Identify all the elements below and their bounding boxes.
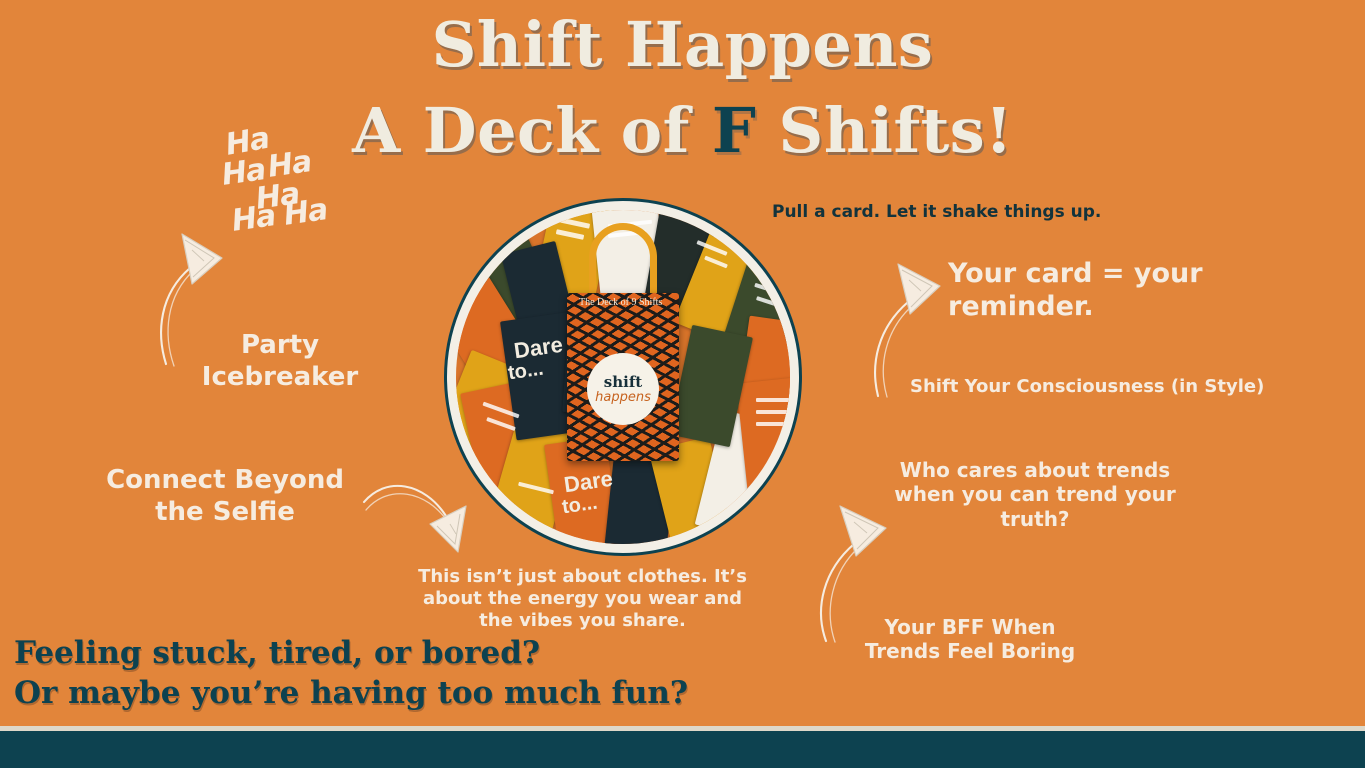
bottom-question-line-1: Feeling stuck, tired, or bored? xyxy=(14,634,714,674)
pack-top-text: The Deck of 9 Shifts xyxy=(579,297,662,308)
arrow-to-circle-left-icon xyxy=(362,472,477,572)
callout-party-icebreaker: Party Icebreaker xyxy=(160,330,400,393)
badge-sub: happens xyxy=(595,391,651,404)
card-label: to... xyxy=(507,360,545,384)
title-line-1: Shift Happens xyxy=(0,14,1365,76)
callout-your-card-reminder: Your card = your reminder. xyxy=(948,258,1348,324)
callout-your-bff: Your BFF When Trends Feel Boring xyxy=(830,615,1110,664)
callout-pull-a-card: Pull a card. Let it shake things up. xyxy=(772,202,1252,223)
title-accent-letter: F xyxy=(712,94,757,167)
product-photo: Dare to... Dare to... The Deck of 9 Shif… xyxy=(456,210,790,544)
callout-about-clothes: This isn’t just about clothes. It’s abou… xyxy=(410,566,755,632)
card-label: to... xyxy=(561,494,599,518)
badge-title: shift xyxy=(604,375,642,390)
callout-shift-consciousness: Shift Your Consciousness (in Style) xyxy=(910,376,1310,398)
laugh-text: Ha xyxy=(266,144,314,185)
laugh-text: Ha xyxy=(230,198,278,239)
footer-bar xyxy=(0,731,1365,768)
laugh-text: Ha xyxy=(220,152,268,193)
laugh-text: Ha xyxy=(254,176,302,217)
gift-bag-handle xyxy=(589,223,657,303)
laugh-text: Ha xyxy=(282,192,330,233)
title-line-2: A Deck of F Shifts! xyxy=(0,100,1365,162)
poster-canvas: Shift Happens A Deck of F Shifts! Ha Ha … xyxy=(0,0,1365,768)
title-line-2-before: A Deck of xyxy=(352,94,712,167)
callout-trend-your-truth: Who cares about trends when you can tren… xyxy=(880,458,1190,531)
brand-badge: shift happens xyxy=(587,353,659,425)
laugh-doodle-group: Ha Ha Ha Ha Ha Ha xyxy=(222,128,372,238)
bottom-question-block: Feeling stuck, tired, or bored? Or maybe… xyxy=(14,634,714,713)
page-title: Shift Happens A Deck of F Shifts! xyxy=(0,14,1365,162)
product-photo-circle: Dare to... Dare to... The Deck of 9 Shif… xyxy=(444,198,802,556)
bottom-question-line-2: Or maybe you’re having too much fun? xyxy=(14,674,714,714)
callout-connect-beyond-selfie: Connect Beyond the Selfie xyxy=(72,465,378,528)
laugh-text: Ha xyxy=(223,121,272,163)
title-line-2-after: Shifts! xyxy=(756,94,1012,167)
